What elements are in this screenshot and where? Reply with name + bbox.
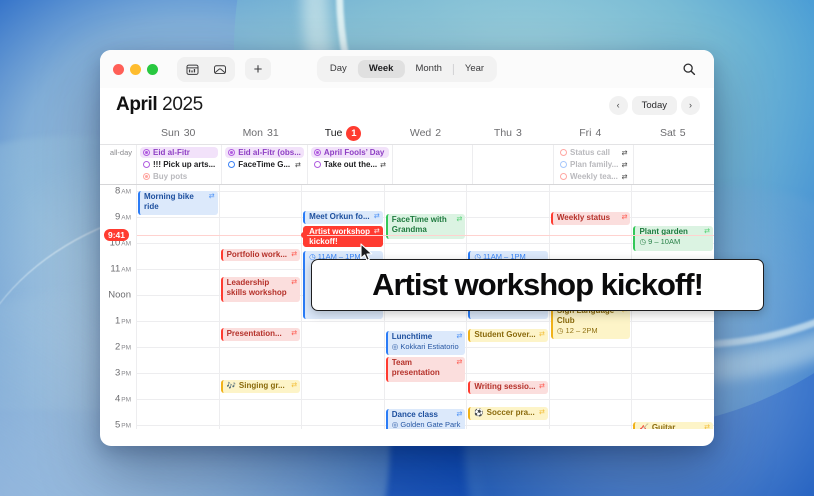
day-date-label: 2 [435, 127, 441, 139]
calendar-event[interactable]: Student Gover...⇄ [468, 329, 548, 342]
event-title: Dance class [392, 410, 454, 420]
hour-gridline [137, 295, 219, 296]
hour-gridline [220, 425, 302, 426]
month-label: April [116, 94, 157, 115]
hour-gridline [220, 347, 302, 348]
hour-label-meridiem: AM [121, 189, 131, 196]
event-emoji-icon: 🎸 [639, 423, 648, 429]
event-ring-icon [560, 161, 567, 168]
day-weekday-label: Mon [243, 127, 263, 139]
all-day-row: all-day Eid al-Fitr!!! Pick up arts...Bu… [100, 144, 714, 185]
day-header-tue[interactable]: Tue1 [302, 126, 384, 141]
traffic-lights [113, 64, 158, 75]
hour-gridline [302, 399, 384, 400]
repeat-icon: ⇄ [291, 329, 297, 339]
all-day-column[interactable] [393, 145, 474, 184]
calendar-event[interactable]: ⚽Soccer pra...⇄ [468, 407, 548, 420]
event-title: Meet Orkun fo... [309, 212, 371, 222]
event-title: Student Gover... [474, 330, 536, 340]
hour-gridline [550, 399, 632, 400]
day-header-wed[interactable]: Wed2 [384, 126, 466, 141]
day-date-label: 30 [184, 127, 196, 139]
hour-gridline [632, 191, 714, 192]
tab-day[interactable]: Day [319, 60, 358, 78]
hour-gridline [467, 217, 549, 218]
hour-label: 1PM [115, 316, 131, 327]
hour-gridline [550, 373, 632, 374]
hour-gridline [302, 191, 384, 192]
event-title: Morning bike ride [144, 192, 206, 212]
event-title: Guitar lessons with S [652, 423, 701, 429]
all-day-event[interactable]: April Fools’ Day [311, 147, 389, 158]
day-header-thu[interactable]: Thu3 [467, 126, 549, 141]
hour-label: 3PM [115, 368, 131, 379]
hour-gridline [137, 373, 219, 374]
all-day-event[interactable]: Eid al-Fitr (obs... [225, 147, 304, 158]
hour-gridline [302, 321, 384, 322]
event-ring-icon [560, 149, 567, 156]
day-date-label: 3 [516, 127, 522, 139]
hour-gridline [550, 243, 632, 244]
event-ring-icon [143, 161, 150, 168]
all-day-event-title: April Fools’ Day [324, 148, 386, 157]
today-date-badge: 1 [346, 126, 361, 141]
zoom-button[interactable] [147, 64, 158, 75]
hour-gridline [220, 243, 302, 244]
event-ring-icon [314, 161, 321, 168]
day-weekday-label: Sun [161, 127, 180, 139]
hour-label-meridiem: AM [121, 215, 131, 222]
hour-label-value: 4 [115, 394, 120, 405]
hour-gridline [467, 191, 549, 192]
hour-label-meridiem: AM [121, 267, 131, 274]
current-time-badge: 9:41 [104, 229, 129, 241]
day-header-row: Sun30Mon31Tue1Wed2Thu3Fri4Sat5 [100, 122, 714, 144]
current-time-line [137, 235, 714, 236]
all-day-column[interactable]: Eid al-Fitr!!! Pick up arts...Buy pots [137, 145, 222, 184]
close-button[interactable] [113, 64, 124, 75]
hour-gridline [632, 321, 714, 322]
hour-gridline [385, 243, 467, 244]
hour-gridline [220, 321, 302, 322]
tab-month[interactable]: Month [404, 60, 452, 78]
repeat-icon: ⇄ [456, 332, 462, 342]
inbox-icon[interactable] [207, 59, 232, 80]
hour-label-meridiem: PM [121, 397, 131, 404]
hour-gridline [137, 243, 219, 244]
hour-gridline [467, 321, 549, 322]
date-navigation: ‹ Today › [609, 96, 700, 115]
hour-gridline [137, 347, 219, 348]
all-day-event-title: Buy pots [153, 172, 215, 181]
day-date-label: 4 [596, 127, 602, 139]
calendar-window: + Day Week Month Year April 2025 ‹ Today… [100, 50, 714, 446]
event-title: Writing sessio... [474, 382, 536, 392]
calendar-event[interactable]: Weekly status⇄ [551, 212, 631, 225]
repeat-icon: ⇄ [456, 358, 462, 368]
hour-gridline [385, 191, 467, 192]
calendar-event[interactable]: Portfolio work...⇄ [221, 249, 301, 261]
hour-gridline [550, 191, 632, 192]
hour-gridline [137, 321, 219, 322]
hour-gridline [467, 399, 549, 400]
calendar-event[interactable]: Leadership skills workshop⇄ [221, 277, 301, 302]
day-date-label: 31 [267, 127, 279, 139]
hour-gridline [385, 321, 467, 322]
minimize-button[interactable] [130, 64, 141, 75]
page-title: April 2025 [116, 94, 203, 116]
hour-gridline [137, 425, 219, 426]
repeat-icon: ⇄ [209, 192, 215, 202]
hour-label: 11AM [110, 264, 131, 275]
hour-label-meridiem: PM [121, 319, 131, 326]
hour-label-value: Noon [108, 290, 131, 301]
all-day-event[interactable]: Buy pots [140, 171, 218, 182]
hour-gridline [220, 217, 302, 218]
day-weekday-label: Sat [660, 127, 676, 139]
event-meta: ◷ 12 – 2PM [557, 326, 628, 336]
hour-label-value: 8 [115, 186, 120, 197]
calendar-event[interactable]: Team presentation⇄ [386, 357, 466, 382]
all-day-event-title: Take out the... [324, 160, 377, 169]
repeat-icon: ⇄ [295, 161, 301, 169]
event-emoji-icon: 🎶 [227, 381, 236, 391]
all-day-event-title: FaceTime G... [238, 160, 292, 169]
all-day-event-title: Eid al-Fitr [153, 148, 215, 157]
all-day-event[interactable]: FaceTime G...⇄ [225, 159, 304, 170]
hour-gridline [220, 399, 302, 400]
all-day-event-title: !!! Pick up arts... [153, 160, 215, 169]
all-day-event-title: Eid al-Fitr (obs... [238, 148, 301, 157]
hour-gridline [632, 217, 714, 218]
event-title: FaceTime with Grandma [392, 215, 454, 235]
repeat-icon: ⇄ [456, 410, 462, 420]
day-header-sun[interactable]: Sun30 [137, 126, 219, 141]
hour-gridline [632, 347, 714, 348]
day-column-mon[interactable]: Portfolio work...⇄Leadership skills work… [220, 185, 303, 429]
repeat-icon: ⇄ [291, 250, 297, 260]
hour-gridline [137, 399, 219, 400]
event-meta: ◷ 9 – 10AM [639, 237, 710, 247]
repeat-icon: ⇄ [539, 330, 545, 340]
hour-label-meridiem: PM [121, 345, 131, 352]
hour-label-value: 3 [115, 368, 120, 379]
repeat-icon: ⇄ [380, 161, 386, 169]
event-title: Presentation... [227, 329, 289, 339]
hour-gridline [467, 347, 549, 348]
all-day-column[interactable] [634, 145, 714, 184]
repeat-icon: ⇄ [291, 278, 297, 288]
view-segmented-control: Day Week Month Year [317, 56, 497, 82]
tab-week[interactable]: Week [358, 60, 405, 78]
calendar-event[interactable]: 🎶Singing gr...⇄ [221, 380, 301, 393]
all-day-event[interactable]: Status call⇄ [557, 147, 631, 158]
today-button[interactable]: Today [632, 96, 677, 115]
all-day-event-title: Weekly tea... [570, 172, 619, 181]
hour-gridline [302, 373, 384, 374]
event-ring-icon [228, 161, 235, 168]
calendar-event[interactable]: Lunchtime⇄◎ Kokkari Estiatorio [386, 331, 466, 355]
event-emoji-icon: ⚽ [474, 408, 483, 418]
day-header-mon[interactable]: Mon31 [219, 126, 301, 141]
hour-gridline [467, 373, 549, 374]
window-titlebar: + Day Week Month Year [100, 50, 714, 88]
all-day-column[interactable]: April Fools’ DayTake out the...⇄ [308, 145, 393, 184]
search-icon[interactable] [678, 58, 700, 80]
all-day-column[interactable]: Status call⇄Plan family...⇄Weekly tea...… [554, 145, 635, 184]
event-title: Lunchtime [392, 332, 454, 342]
all-day-event[interactable]: !!! Pick up arts... [140, 159, 218, 170]
year-label: 2025 [162, 94, 203, 115]
previous-week-button[interactable]: ‹ [609, 96, 628, 115]
selected-event[interactable]: Artist workshop kickoff!⇄ [303, 226, 383, 247]
day-header-sat[interactable]: Sat5 [632, 126, 714, 141]
hour-label-value: 5 [115, 420, 120, 430]
tab-year[interactable]: Year [454, 60, 495, 78]
event-title: Singing gr... [239, 381, 288, 391]
hour-label-value: 2 [115, 342, 120, 353]
calendar-event[interactable]: Meet Orkun fo...⇄ [303, 211, 383, 224]
hour-gridline [137, 269, 219, 270]
event-meta: ◎ Golden Gate Park [392, 420, 463, 429]
event-meta: ◎ Kokkari Estiatorio [392, 342, 463, 352]
hour-label-value: 9 [115, 212, 120, 223]
repeat-icon: ⇄ [622, 173, 628, 181]
repeat-icon: ⇄ [291, 381, 297, 391]
hour-gridline [302, 347, 384, 348]
event-title: Artist workshop kickoff! [309, 227, 371, 247]
event-filled-dot-icon [228, 149, 235, 156]
hour-label-value: 11 [110, 264, 120, 275]
day-weekday-label: Tue [325, 127, 343, 139]
hour-gridline [220, 373, 302, 374]
event-filled-dot-icon [143, 173, 150, 180]
hour-gridline [385, 399, 467, 400]
calendar-event[interactable]: Morning bike ride⇄ [138, 191, 218, 215]
repeat-icon: ⇄ [622, 161, 628, 169]
repeat-icon: ⇄ [374, 212, 380, 222]
hour-label: 4PM [115, 394, 131, 405]
event-title: Team presentation [392, 358, 454, 378]
day-weekday-label: Thu [494, 127, 512, 139]
day-weekday-label: Wed [410, 127, 431, 139]
all-day-event-title: Status call [570, 148, 619, 157]
event-title: Soccer pra... [487, 408, 536, 418]
repeat-icon: ⇄ [456, 215, 462, 225]
hour-gridline [220, 191, 302, 192]
hour-gridline [220, 269, 302, 270]
event-filled-dot-icon [143, 149, 150, 156]
day-weekday-label: Fri [579, 127, 591, 139]
event-title: Weekly status [557, 213, 619, 223]
repeat-icon: ⇄ [704, 423, 710, 429]
hour-label-meridiem: PM [121, 423, 131, 430]
add-event-button[interactable]: + [245, 58, 271, 80]
hour-label: 9AM [115, 212, 131, 223]
calendar-event[interactable]: Presentation...⇄ [221, 328, 301, 341]
hover-preview-text: Artist workshop kickoff! [372, 267, 703, 303]
calendar-event[interactable]: Dance class⇄◎ Golden Gate Park◷ 4 – 5:30… [386, 409, 466, 429]
hour-gridline [302, 425, 384, 426]
repeat-icon: ⇄ [622, 149, 628, 157]
all-day-column[interactable]: Eid al-Fitr (obs...FaceTime G...⇄ [222, 145, 308, 184]
event-filled-dot-icon [314, 149, 321, 156]
event-title: Leadership skills workshop [227, 278, 289, 298]
day-column-sun[interactable]: Morning bike ride⇄ [137, 185, 220, 429]
calendar-view-icon[interactable] [180, 59, 205, 80]
hour-gridline [467, 425, 549, 426]
all-day-event-title: Plan family... [570, 160, 619, 169]
calendar-event[interactable]: Writing sessio...⇄ [468, 381, 548, 394]
hour-label: 2PM [115, 342, 131, 353]
all-day-label: all-day [100, 145, 137, 184]
hour-gridline [137, 217, 219, 218]
repeat-icon: ⇄ [622, 213, 628, 223]
hour-gridline [632, 373, 714, 374]
hour-gridline [550, 425, 632, 426]
event-ring-icon [560, 173, 567, 180]
hour-gridline [467, 243, 549, 244]
repeat-icon: ⇄ [539, 382, 545, 392]
hour-label-value: 1 [115, 316, 120, 327]
all-day-event[interactable]: Take out the...⇄ [311, 159, 389, 170]
hour-gridline [550, 347, 632, 348]
hour-label: 8AM [115, 186, 131, 197]
all-day-event[interactable]: Weekly tea...⇄ [557, 171, 631, 182]
day-header-fri[interactable]: Fri4 [549, 126, 631, 141]
hour-label-meridiem: AM [121, 241, 131, 248]
hour-label: 5PM [115, 420, 131, 430]
hour-gridline [632, 399, 714, 400]
calendar-event[interactable]: 🎸Guitar lessons with S⇄ [633, 422, 713, 429]
hour-label-meridiem: PM [121, 371, 131, 378]
day-date-label: 5 [680, 127, 686, 139]
time-gutter: 8AM9AM10AM11AMNoon1PM2PM3PM4PM5PM [100, 185, 137, 429]
current-time-dot [301, 232, 307, 238]
all-day-event[interactable]: Eid al-Fitr [140, 147, 218, 158]
toolbar-icon-group [177, 57, 235, 82]
hover-preview-card: Artist workshop kickoff! [311, 259, 764, 311]
hour-label: Noon [108, 290, 131, 301]
all-day-column[interactable] [473, 145, 554, 184]
month-header: April 2025 ‹ Today › [100, 88, 714, 122]
calendar-event[interactable]: Plant garden⇄◷ 9 – 10AM [633, 226, 713, 251]
next-week-button[interactable]: › [681, 96, 700, 115]
all-day-event[interactable]: Plan family...⇄ [557, 159, 631, 170]
repeat-icon: ⇄ [539, 408, 545, 418]
event-title: Portfolio work... [227, 250, 289, 260]
